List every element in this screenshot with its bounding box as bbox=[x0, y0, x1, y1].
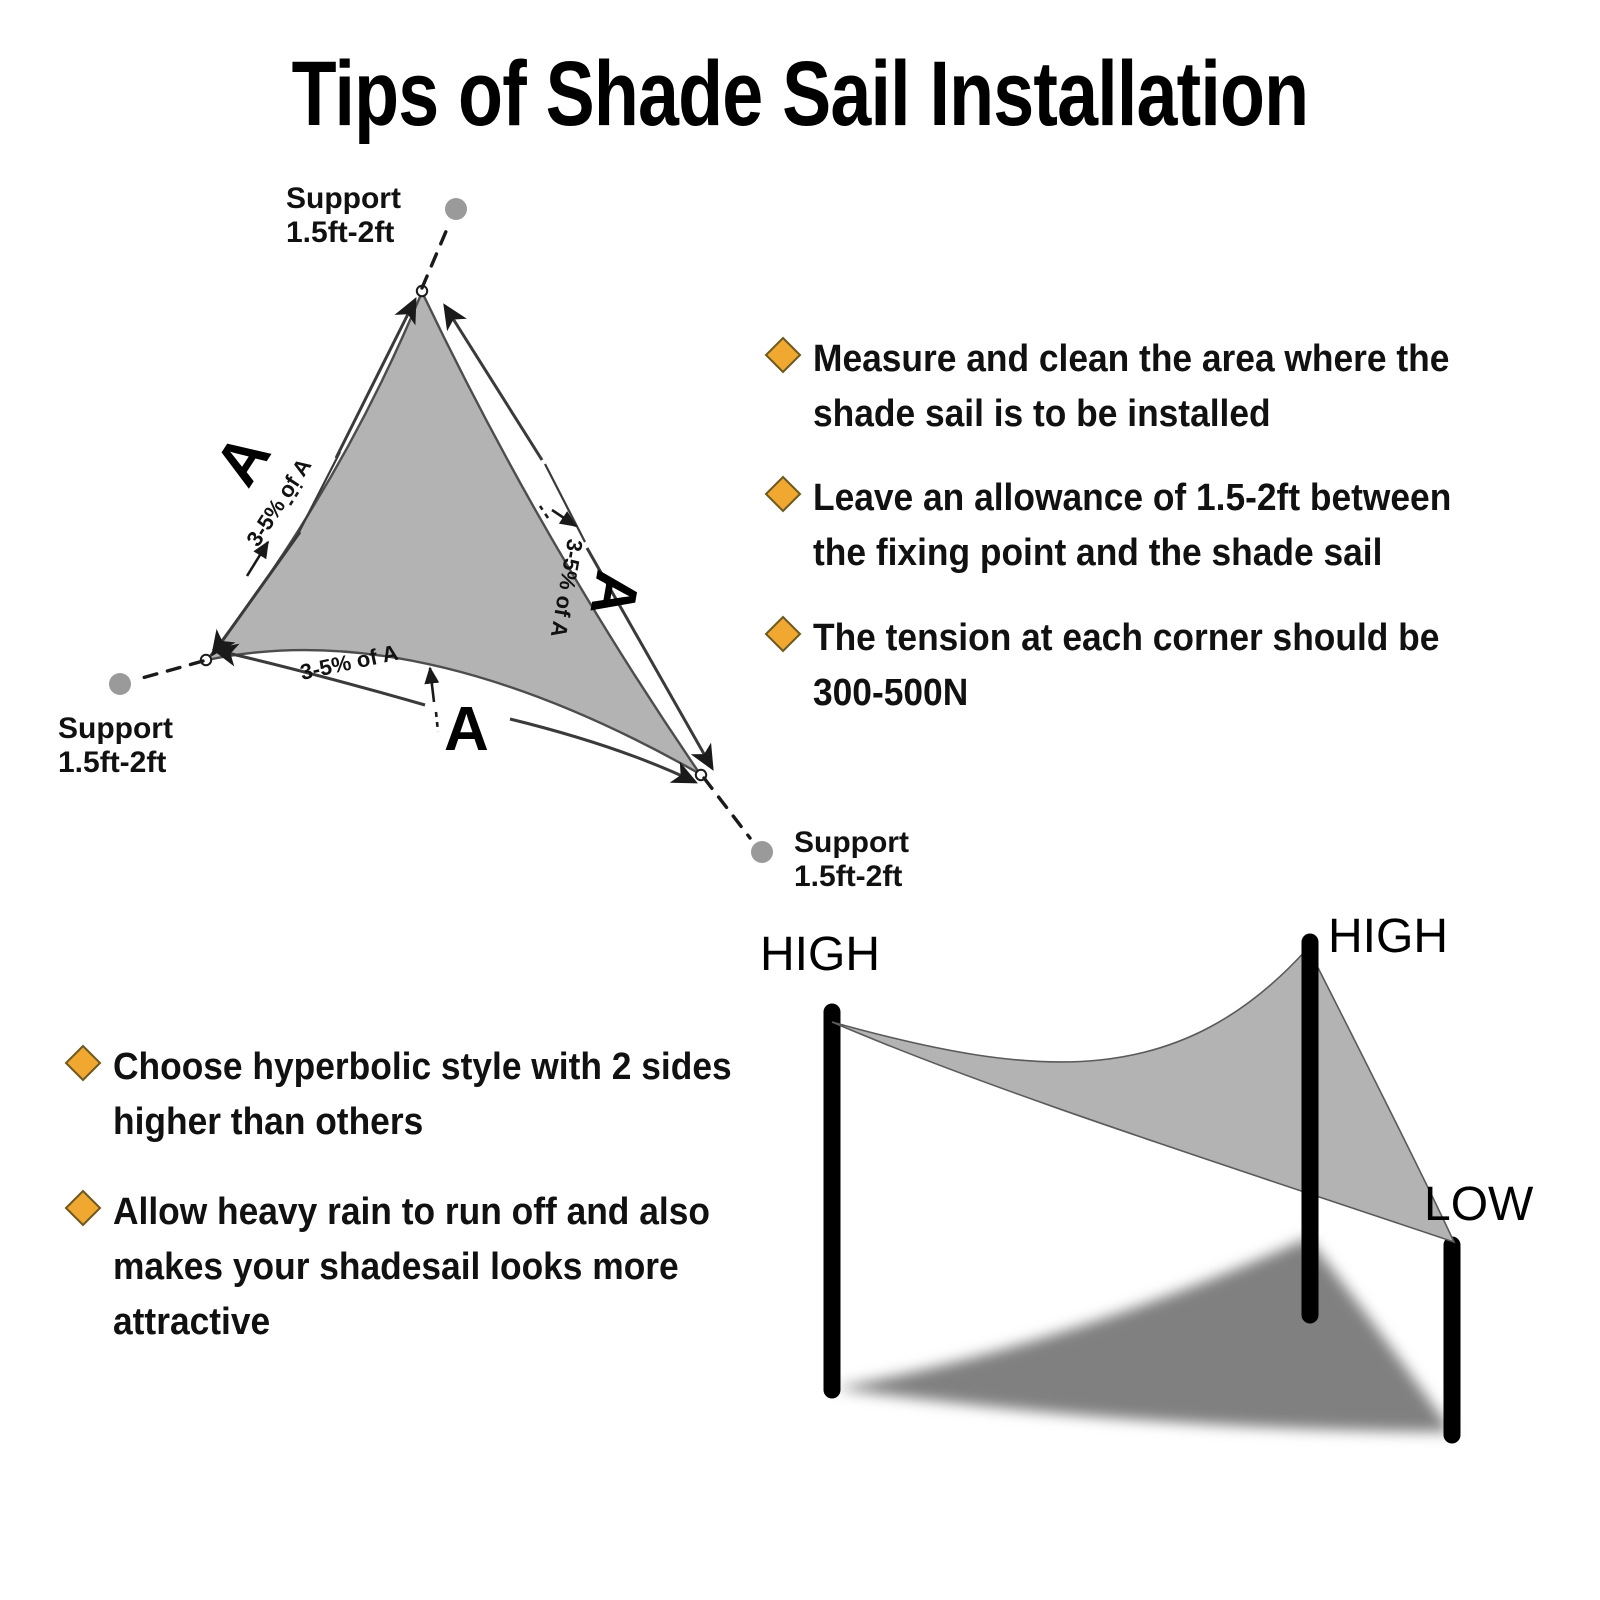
support-label-left: Support 1.5ft-2ft bbox=[58, 712, 173, 779]
list-item: The tension at each corner should be 300… bbox=[770, 611, 1560, 720]
support-bottom-line2: 1.5ft-2ft bbox=[794, 860, 902, 893]
tip-text: Measure and clean the area where the sha… bbox=[813, 332, 1508, 441]
hyperbolic-shade-sail-diagram: HIGH HIGH LOW bbox=[740, 890, 1600, 1550]
ground-shadow bbox=[835, 1238, 1452, 1432]
support-bottom-line1: Support bbox=[794, 826, 909, 859]
corner-label-high-right: HIGH bbox=[1328, 910, 1448, 963]
diamond-bullet-icon bbox=[65, 1190, 102, 1227]
infographic-page: Tips of Shade Sail Installation bbox=[0, 0, 1600, 1600]
tip-text: Choose hyperbolic style with 2 sides hig… bbox=[113, 1040, 743, 1149]
support-label-top: Support 1.5ft-2ft bbox=[286, 182, 401, 249]
support-label-bottom: Support 1.5ft-2ft bbox=[794, 826, 909, 893]
edge-bottom-sag-arrow bbox=[430, 668, 438, 732]
corner-label-low-right: LOW bbox=[1424, 1178, 1534, 1231]
diamond-bullet-icon bbox=[765, 337, 802, 374]
diamond-bullet-icon bbox=[65, 1045, 102, 1082]
page-title: Tips of Shade Sail Installation bbox=[160, 48, 1440, 140]
tip-text: The tension at each corner should be 300… bbox=[813, 611, 1508, 720]
tips-list-bottom: Choose hyperbolic style with 2 sides hig… bbox=[70, 1040, 790, 1386]
edge-bottom-measure-label: A bbox=[444, 695, 489, 764]
list-item: Allow heavy rain to run off and also mak… bbox=[70, 1185, 790, 1349]
diamond-bullet-icon bbox=[765, 476, 802, 513]
sail-shape bbox=[832, 948, 1454, 1242]
corner-label-high-left: HIGH bbox=[760, 928, 880, 981]
support-left-line2: 1.5ft-2ft bbox=[58, 746, 166, 779]
support-left-line1: Support bbox=[58, 712, 173, 745]
tip-text: Leave an allowance of 1.5-2ft between th… bbox=[813, 471, 1508, 580]
support-top-line1: Support bbox=[286, 182, 401, 215]
support-top-line2: 1.5ft-2ft bbox=[286, 216, 394, 249]
tips-list-top: Measure and clean the area where the sha… bbox=[770, 332, 1560, 750]
edge-left-measure-label: A bbox=[202, 422, 284, 497]
list-item: Choose hyperbolic style with 2 sides hig… bbox=[70, 1040, 790, 1149]
tip-text: Allow heavy rain to run off and also mak… bbox=[113, 1185, 743, 1349]
list-item: Measure and clean the area where the sha… bbox=[770, 332, 1560, 441]
diamond-bullet-icon bbox=[765, 615, 802, 652]
list-item: Leave an allowance of 1.5-2ft between th… bbox=[770, 471, 1560, 580]
